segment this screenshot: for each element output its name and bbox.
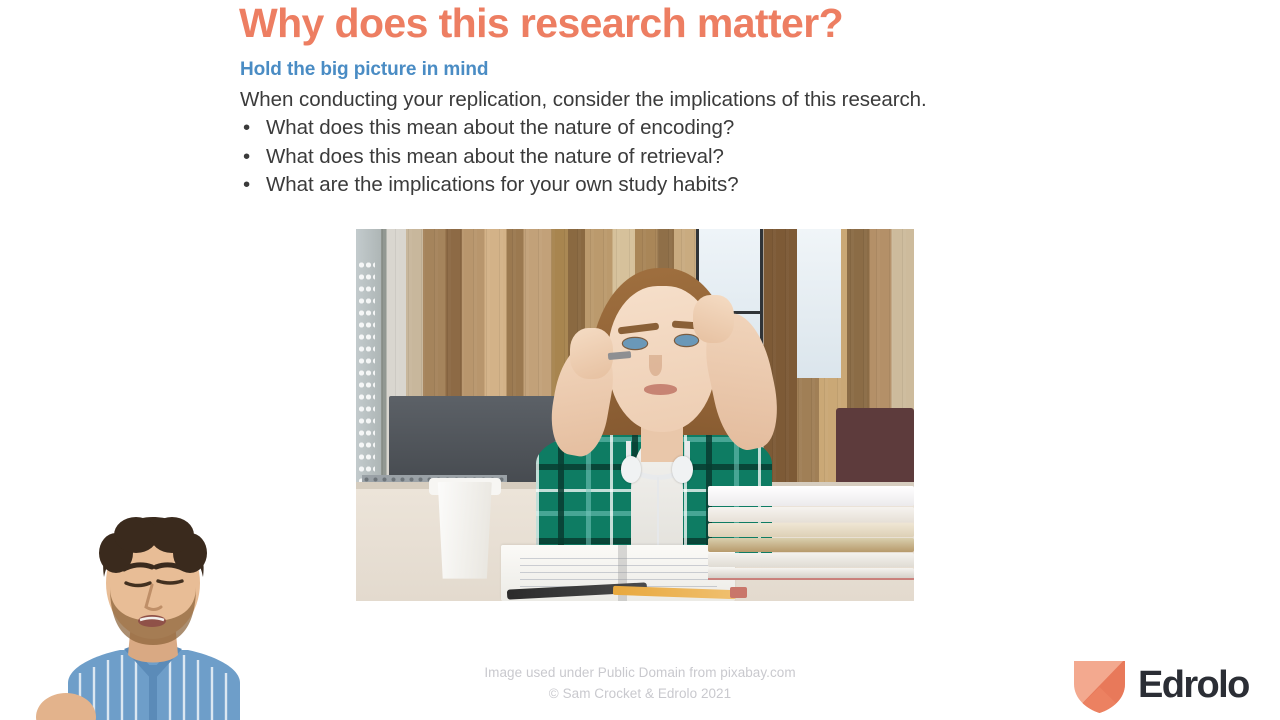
book-stack [708,486,914,583]
list-item: • What does this mean about the nature o… [240,114,1120,143]
pencil-eraser [730,587,747,598]
book [708,486,914,506]
list-item: • What does this mean about the nature o… [240,143,1120,172]
nose [649,355,662,376]
lips [644,384,677,394]
bullet-list: • What does this mean about the nature o… [240,114,1120,200]
list-item-label: What does this mean about the nature of … [266,145,724,168]
edrolo-logo: Edrolo [1072,655,1277,715]
book [708,538,914,553]
presenter-eye-right [158,581,182,583]
list-item: • What are the implications for your own… [240,171,1120,200]
bullet-marker-icon: • [243,114,250,143]
bullet-marker-icon: • [243,171,250,200]
slide-photo [356,229,914,601]
presenter-webcam-overlay [28,505,278,720]
shield-icon [1072,657,1127,714]
page-title: Why does this research matter? [239,0,1139,49]
edrolo-wordmark: Edrolo [1138,666,1249,704]
book-accent [708,578,914,581]
slide-subtitle: Hold the big picture in mind [240,58,488,82]
slide-canvas: Why does this research matter? Hold the … [0,0,1280,720]
hand-left [570,328,614,379]
chair [836,408,914,490]
eye-left [623,338,646,349]
lead-paragraph: When conducting your replication, consid… [240,86,1120,114]
headphone-cup-right [672,456,693,483]
book [708,523,914,537]
body-text-block: When conducting your replication, consid… [240,86,1120,200]
book [708,568,914,581]
list-item-label: What are the implications for your own s… [266,173,739,196]
headphone-wire [657,477,659,554]
window-right [797,229,842,378]
headphone-cup-left [621,456,642,483]
eye-right [675,335,698,346]
bullet-marker-icon: • [243,143,250,172]
hand-right [693,295,734,343]
book [708,553,914,567]
book [708,507,914,522]
list-item-label: What does this mean about the nature of … [266,116,734,139]
coffee-cup [434,482,495,579]
presenter-figure [28,505,278,720]
photo-scene [356,229,914,601]
